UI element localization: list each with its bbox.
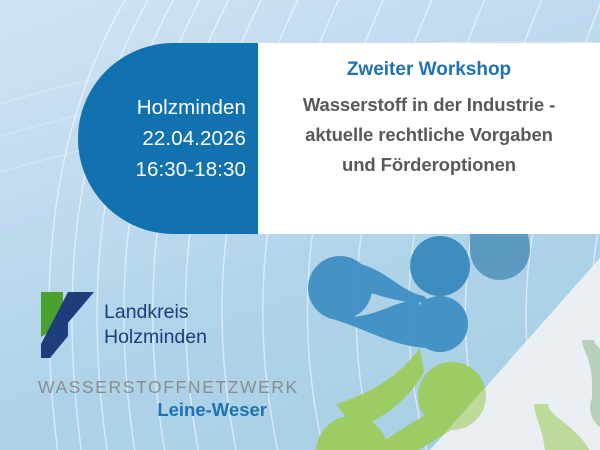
molecule-green-dumbbell [316, 348, 486, 450]
event-location: Holzminden [137, 92, 246, 123]
workshop-headline-line-2: aktuelle rechtliche Vorgaben [303, 120, 555, 150]
event-details-pill: Holzminden 22.04.2026 16:30-18:30 [78, 43, 258, 234]
network-name: WASSERSTOFFNETZWERK [38, 376, 298, 398]
authority-logo-row: Landkreis Holzminden [38, 288, 298, 362]
workshop-headline-line-3: und Förderoptionen [303, 150, 555, 180]
authority-name-line-2: Holzminden [104, 325, 207, 350]
workshop-kicker: Zweiter Workshop [347, 57, 511, 83]
workshop-headline: Wasserstoff in der Industrie - aktuelle … [303, 90, 555, 180]
authority-name: Landkreis Holzminden [104, 300, 207, 350]
authority-name-line-1: Landkreis [104, 300, 207, 325]
molecule-green-teardrop [534, 340, 600, 450]
workshop-title-panel: Zweiter Workshop Wasserstoff in der Indu… [258, 43, 600, 234]
network-region: Leine-Weser [38, 398, 267, 422]
logo-lockup: Landkreis Holzminden WASSERSTOFFNETZWERK… [38, 288, 298, 422]
landkreis-holzminden-logo-icon [38, 288, 96, 362]
event-announcement-banner: Holzminden 22.04.2026 16:30-18:30 Zweite… [0, 0, 600, 450]
event-date: 22.04.2026 [142, 123, 246, 154]
molecule-blue-dumbbell [308, 256, 468, 352]
event-time: 16:30-18:30 [135, 154, 246, 185]
molecule-blue-dot [410, 236, 470, 296]
workshop-headline-line-1: Wasserstoff in der Industrie - [303, 90, 555, 120]
